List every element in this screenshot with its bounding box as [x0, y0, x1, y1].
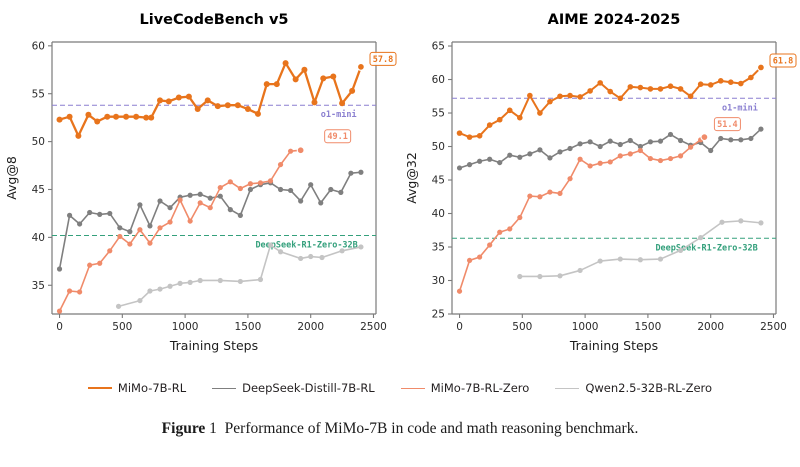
data-point — [311, 99, 317, 105]
y-tick-label: 35 — [32, 280, 45, 292]
data-point — [668, 132, 673, 137]
data-point — [238, 279, 243, 284]
reference-line-label: DeepSeek-R1-Zero-32B — [655, 243, 757, 253]
series-qwen2-5-32b-rl-zero — [116, 242, 364, 308]
x-axis-title: Training Steps — [169, 338, 258, 353]
y-tick-label: 35 — [432, 242, 445, 254]
chart-svg-livecodebench: LiveCodeBench v5354045505560050010001500… — [0, 0, 400, 372]
x-tick-label: 1000 — [572, 321, 599, 333]
x-axis-ticks: 05001000150020002500 — [56, 314, 387, 333]
x-tick-label: 2500 — [760, 321, 787, 333]
data-point — [497, 117, 503, 123]
data-point — [205, 97, 211, 103]
x-tick-label: 2000 — [297, 321, 324, 333]
data-point — [517, 274, 522, 279]
y-axis-ticks: 253035404550556065 — [432, 41, 452, 321]
x-tick-label: 0 — [456, 321, 463, 333]
data-point — [598, 144, 603, 149]
data-point — [57, 117, 63, 123]
data-point — [248, 187, 253, 192]
data-point — [255, 111, 261, 117]
data-point — [358, 170, 363, 175]
data-point — [617, 95, 623, 101]
data-point — [104, 114, 110, 120]
series-line — [60, 172, 361, 269]
annotation-anchor-point — [358, 64, 365, 71]
data-point — [738, 81, 744, 87]
data-point — [537, 147, 542, 152]
data-point — [328, 187, 333, 192]
data-point — [123, 114, 129, 120]
legend-label-mimo-7b-rl: MiMo-7B-RL — [118, 381, 186, 395]
data-point — [238, 186, 243, 191]
y-tick-label: 60 — [432, 74, 445, 86]
data-point — [157, 97, 163, 103]
data-point — [278, 187, 283, 192]
data-point — [719, 220, 724, 225]
data-point — [517, 215, 522, 220]
data-point — [338, 190, 343, 195]
x-tick-label: 1500 — [635, 321, 662, 333]
data-point — [457, 165, 462, 170]
data-point — [618, 256, 623, 261]
data-point — [97, 212, 102, 217]
data-point — [688, 93, 694, 99]
data-point — [487, 122, 493, 128]
data-point — [75, 133, 81, 139]
data-point — [678, 138, 683, 143]
reference-line-o1-mini: o1-mini — [452, 98, 776, 113]
data-point — [527, 93, 533, 99]
data-point — [708, 82, 714, 88]
data-point — [537, 194, 542, 199]
data-point — [278, 162, 283, 167]
plot-frame — [452, 42, 776, 314]
data-point — [166, 98, 172, 104]
data-point — [117, 234, 122, 239]
data-point — [225, 102, 231, 108]
legend-swatch-mimo-7b-rl — [88, 387, 112, 389]
reference-line-o1-mini: o1-mini — [52, 105, 376, 120]
panel-aime: AIME 2024-202525303540455055606505001000… — [400, 0, 800, 372]
y-tick-label: 45 — [432, 175, 445, 187]
figure-caption: Figure 1 Performance of MiMo-7B in code … — [0, 420, 800, 438]
series-mimo-7b-rl-zero — [57, 148, 303, 314]
data-point — [547, 155, 552, 160]
data-point — [668, 83, 674, 89]
data-point — [293, 76, 299, 82]
data-point — [497, 160, 502, 165]
data-point — [137, 298, 142, 303]
data-point — [258, 180, 263, 185]
y-tick-label: 30 — [432, 275, 445, 287]
data-point — [107, 211, 112, 216]
data-point — [177, 281, 182, 286]
data-point — [348, 171, 353, 176]
data-point — [238, 213, 243, 218]
data-point — [87, 263, 92, 268]
data-point — [228, 207, 233, 212]
data-point — [487, 242, 492, 247]
data-point — [57, 266, 62, 271]
data-point — [477, 159, 482, 164]
chart-title: LiveCodeBench v5 — [139, 12, 288, 28]
data-point — [258, 277, 263, 282]
chart-svg-aime: AIME 2024-202525303540455055606505001000… — [400, 0, 800, 372]
y-tick-label: 25 — [432, 309, 445, 321]
data-point — [648, 156, 653, 161]
data-point — [758, 126, 763, 131]
data-point — [748, 136, 753, 141]
data-point — [288, 149, 293, 154]
data-point — [658, 139, 663, 144]
data-point — [718, 136, 723, 141]
panel-livecodebench: LiveCodeBench v5354045505560050010001500… — [0, 0, 400, 372]
data-point — [218, 194, 223, 199]
data-point — [628, 151, 633, 156]
data-point — [349, 88, 355, 94]
annotation-49-1: 49.1 — [297, 130, 350, 154]
data-point — [537, 274, 542, 279]
data-point — [557, 93, 563, 99]
data-point — [97, 261, 102, 266]
y-axis-title: Avg@32 — [404, 152, 419, 204]
data-point — [598, 258, 603, 263]
data-point — [698, 81, 704, 87]
legend-label-qwen25-32b-rl-zero: Qwen2.5-32B-RL-Zero — [585, 381, 712, 395]
data-point — [517, 155, 522, 160]
data-point — [67, 288, 72, 293]
data-point — [597, 80, 603, 86]
data-point — [198, 200, 203, 205]
data-point — [758, 220, 763, 225]
data-point — [567, 176, 572, 181]
data-point — [708, 148, 713, 153]
y-tick-label: 40 — [32, 232, 45, 244]
data-point — [587, 88, 593, 94]
data-point — [195, 106, 201, 112]
data-point — [133, 114, 139, 120]
data-point — [87, 210, 92, 215]
data-point — [567, 146, 572, 151]
caption-head: Figure — [162, 420, 206, 437]
data-point — [330, 73, 336, 79]
data-point — [235, 102, 241, 108]
data-point — [137, 227, 142, 232]
data-point — [688, 145, 693, 150]
data-point — [339, 100, 345, 106]
data-point — [537, 110, 543, 116]
data-point — [77, 221, 82, 226]
data-point — [298, 256, 303, 261]
caption-text: Performance of MiMo-7B in code and math … — [225, 420, 639, 437]
reference-line-label: o1-mini — [321, 109, 357, 120]
data-point — [477, 254, 482, 259]
data-point — [457, 289, 462, 294]
data-point — [638, 148, 643, 153]
data-point — [557, 273, 562, 278]
legend-label-deepseek-distill-7b-rl: DeepSeek-Distill-7B-RL — [242, 381, 375, 395]
data-point — [264, 81, 270, 87]
figure-legend: MiMo-7B-RL DeepSeek-Distill-7B-RL MiMo-7… — [0, 372, 800, 404]
data-point — [588, 163, 593, 168]
data-point — [638, 257, 643, 262]
data-point — [148, 115, 154, 121]
data-point — [208, 196, 213, 201]
y-tick-label: 40 — [432, 208, 445, 220]
annotation-anchor-point — [701, 134, 708, 141]
data-point — [517, 115, 523, 121]
chart-title: AIME 2024-2025 — [548, 12, 681, 28]
data-point — [557, 191, 562, 196]
x-tick-label: 2000 — [697, 321, 724, 333]
data-point — [67, 114, 73, 120]
x-axis-ticks: 05001000150020002500 — [456, 314, 787, 333]
data-point — [308, 182, 313, 187]
data-point — [188, 193, 193, 198]
data-point — [497, 230, 502, 235]
data-point — [107, 248, 112, 253]
data-point — [477, 133, 483, 139]
data-point — [147, 223, 152, 228]
data-point — [319, 255, 324, 260]
y-tick-label: 55 — [432, 108, 445, 120]
data-point — [507, 153, 512, 158]
data-point — [728, 79, 734, 85]
data-point — [748, 75, 754, 81]
legend-item-mimo-7b-rl-zero: MiMo-7B-RL-Zero — [401, 381, 530, 395]
data-point — [487, 157, 492, 162]
legend-item-mimo-7b-rl: MiMo-7B-RL — [88, 381, 186, 395]
legend-label-mimo-7b-rl-zero: MiMo-7B-RL-Zero — [431, 381, 530, 395]
legend-swatch-deepseek-distill-7b-rl — [212, 388, 236, 389]
data-point — [588, 139, 593, 144]
data-point — [308, 254, 313, 259]
data-point — [738, 137, 743, 142]
data-point — [567, 93, 573, 99]
data-point — [288, 188, 293, 193]
data-point — [577, 94, 583, 100]
data-point — [167, 284, 172, 289]
data-point — [157, 198, 162, 203]
x-axis-title: Training Steps — [569, 338, 658, 353]
data-point — [318, 200, 323, 205]
data-point — [298, 198, 303, 203]
data-point — [198, 192, 203, 197]
data-point — [117, 225, 122, 230]
data-point — [608, 159, 613, 164]
data-point — [157, 286, 162, 291]
data-point — [137, 202, 142, 207]
y-tick-label: 50 — [432, 141, 445, 153]
annotation-value: 61.8 — [773, 56, 793, 66]
data-point — [167, 219, 172, 224]
data-point — [608, 139, 613, 144]
series-deepseek-distill-7b-rl — [57, 170, 364, 272]
data-point — [301, 67, 307, 73]
data-point — [218, 278, 223, 283]
data-point — [547, 99, 553, 105]
series-mimo-7b-rl — [57, 60, 364, 139]
data-point — [728, 137, 733, 142]
data-point — [507, 108, 513, 114]
data-point — [198, 278, 203, 283]
series-line — [119, 245, 361, 306]
data-point — [188, 218, 193, 223]
x-tick-label: 1500 — [235, 321, 262, 333]
y-axis-ticks: 354045505560 — [32, 40, 52, 291]
annotation-value: 49.1 — [327, 132, 347, 142]
data-point — [658, 86, 664, 92]
reference-line-deepseek-r1-zero-32b: DeepSeek-R1-Zero-32B — [52, 235, 376, 250]
data-point — [218, 185, 223, 190]
data-point — [577, 141, 582, 146]
data-point — [628, 138, 633, 143]
annotation-value: 57.8 — [373, 55, 393, 65]
data-point — [658, 256, 663, 261]
annotation-57-8: 57.8 — [358, 52, 396, 70]
data-point — [339, 248, 344, 253]
data-point — [127, 229, 132, 234]
data-point — [467, 162, 472, 167]
data-point — [678, 153, 683, 158]
y-axis-title: Avg@8 — [4, 156, 19, 200]
data-point — [177, 197, 182, 202]
data-point — [268, 178, 273, 183]
legend-swatch-mimo-7b-rl-zero — [401, 388, 425, 389]
data-point — [157, 225, 162, 230]
x-tick-label: 2500 — [360, 321, 387, 333]
legend-item-deepseek-distill-7b-rl: DeepSeek-Distill-7B-RL — [212, 381, 375, 395]
data-point — [167, 205, 172, 210]
reference-line-label: o1-mini — [722, 102, 758, 113]
x-tick-label: 1000 — [172, 321, 199, 333]
data-point — [116, 304, 121, 309]
figure-root: LiveCodeBench v5354045505560050010001500… — [0, 0, 800, 467]
data-point — [283, 60, 289, 66]
data-point — [77, 289, 82, 294]
data-point — [320, 75, 326, 81]
data-point — [618, 153, 623, 158]
data-point — [208, 205, 213, 210]
data-point — [628, 84, 634, 90]
x-tick-label: 500 — [112, 321, 132, 333]
series-line — [60, 150, 301, 311]
data-point — [638, 85, 644, 91]
annotation-61-8: 61.8 — [758, 54, 796, 71]
data-point — [507, 226, 512, 231]
data-point — [738, 218, 743, 223]
data-point — [274, 81, 280, 87]
y-tick-label: 65 — [432, 41, 445, 53]
data-point — [57, 309, 62, 314]
data-point — [127, 241, 132, 246]
x-tick-label: 500 — [512, 321, 532, 333]
chart-panels: LiveCodeBench v5354045505560050010001500… — [0, 0, 800, 372]
data-point — [718, 78, 724, 84]
data-point — [147, 241, 152, 246]
reference-line-deepseek-r1-zero-32b: DeepSeek-R1-Zero-32B — [452, 238, 776, 253]
annotation-anchor-point — [297, 147, 304, 154]
legend-swatch-qwen25-32b-rl-zero — [555, 388, 579, 389]
data-point — [658, 158, 663, 163]
data-point — [598, 161, 603, 166]
annotation-anchor-point — [758, 64, 765, 71]
data-point — [467, 134, 473, 140]
data-point — [527, 151, 532, 156]
data-point — [527, 193, 532, 198]
data-point — [147, 288, 152, 293]
data-point — [113, 114, 119, 120]
data-point — [668, 156, 673, 161]
data-point — [547, 189, 552, 194]
data-point — [94, 118, 100, 124]
legend-item-qwen25-32b-rl-zero: Qwen2.5-32B-RL-Zero — [555, 381, 712, 395]
data-point — [245, 106, 251, 112]
data-point — [618, 142, 623, 147]
y-tick-label: 60 — [32, 40, 45, 52]
data-point — [467, 258, 472, 263]
caption-number: 1 — [209, 420, 217, 437]
y-tick-label: 45 — [32, 184, 45, 196]
data-point — [457, 130, 463, 136]
data-point — [278, 249, 283, 254]
data-point — [268, 242, 273, 247]
data-point — [358, 244, 363, 249]
data-point — [67, 213, 72, 218]
data-point — [698, 235, 703, 240]
y-tick-label: 50 — [32, 136, 45, 148]
data-point — [648, 139, 653, 144]
data-point — [186, 94, 192, 100]
data-point — [648, 86, 654, 92]
data-point — [215, 103, 221, 109]
data-point — [228, 179, 233, 184]
data-point — [188, 280, 193, 285]
plot-frame — [52, 42, 376, 314]
data-point — [248, 181, 253, 186]
annotation-value: 51.4 — [717, 120, 737, 130]
data-point — [577, 157, 582, 162]
data-point — [678, 248, 683, 253]
data-point — [85, 112, 91, 118]
data-point — [607, 89, 613, 95]
data-point — [176, 95, 182, 101]
data-point — [577, 268, 582, 273]
data-point — [678, 86, 684, 92]
x-tick-label: 0 — [56, 321, 63, 333]
data-point — [557, 149, 562, 154]
y-tick-label: 55 — [32, 88, 45, 100]
